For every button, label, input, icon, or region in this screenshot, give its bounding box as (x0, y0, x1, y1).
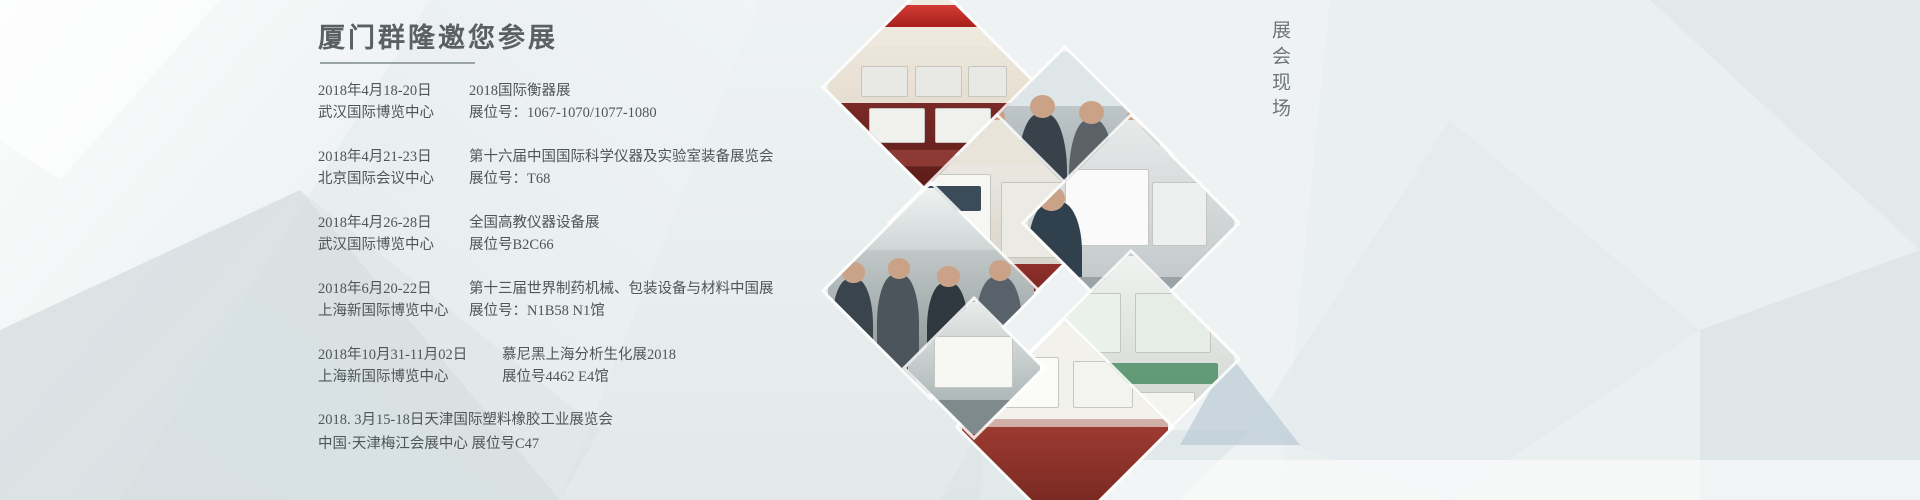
event-booth: 展位号：N1B58 N1馆 (453, 300, 605, 322)
event-booth: 展位号B2C66 (453, 234, 554, 256)
event-venue: 武汉国际博览中心 (318, 234, 453, 256)
vertical-caption: 展会现场 (1266, 20, 1293, 124)
event-row-secondary: 武汉国际博览中心 展位号B2C66 (318, 234, 1078, 256)
event-venue: 上海新国际博览中心 (318, 300, 453, 322)
event-name: 全国高教仪器设备展 (453, 212, 600, 234)
title-underline (320, 62, 475, 64)
event-venue: 上海新国际博览中心 (318, 366, 486, 388)
event-row-secondary: 北京国际会议中心 展位号：T68 (318, 168, 1078, 190)
event-row-primary: 2018年4月26-28日 全国高教仪器设备展 (318, 212, 1078, 234)
event-row-secondary: 中国·天津梅江会展中心 展位号C47 (318, 433, 1078, 456)
event-item: 2018年4月26-28日 全国高教仪器设备展 武汉国际博览中心 展位号B2C6… (318, 212, 1078, 257)
event-row-primary: 2018年4月18-20日 2018国际衡器展 (318, 80, 1078, 102)
event-venue-booth-line: 中国·天津梅江会展中心 展位号C47 (318, 436, 539, 452)
event-item: 2018年4月21-23日 第十六届中国国际科学仪器及实验室装备展览会 北京国际… (318, 146, 1078, 191)
event-row-secondary: 上海新国际博览中心 展位号：N1B58 N1馆 (318, 300, 1078, 322)
event-item: 2018年4月18-20日 2018国际衡器展 武汉国际博览中心 展位号：106… (318, 80, 1078, 125)
event-row-secondary: 上海新国际博览中心 展位号4462 E4馆 (318, 366, 1078, 388)
event-item: 2018年6月20-22日 第十三届世界制药机械、包装设备与材料中国展 上海新国… (318, 278, 1078, 323)
event-venue: 武汉国际博览中心 (318, 102, 453, 124)
event-name: 第十三届世界制药机械、包装设备与材料中国展 (453, 278, 774, 300)
event-booth: 展位号：T68 (453, 168, 550, 190)
event-row-primary: 2018年10月31-11月02日 慕尼黑上海分析生化展2018 (318, 344, 1078, 366)
event-date: 2018年6月20-22日 (318, 278, 453, 300)
event-item: 2018. 3月15-18日天津国际塑料橡胶工业展览会 中国·天津梅江会展中心 … (318, 409, 1078, 455)
event-booth: 展位号4462 E4馆 (486, 366, 609, 388)
page-title: 厦门群隆邀您参展 (318, 22, 1078, 56)
event-venue: 北京国际会议中心 (318, 168, 453, 190)
event-item: 2018年10月31-11月02日 慕尼黑上海分析生化展2018 上海新国际博览… (318, 344, 1078, 389)
event-row-primary: 2018年6月20-22日 第十三届世界制药机械、包装设备与材料中国展 (318, 278, 1078, 300)
event-row-primary: 2018. 3月15-18日天津国际塑料橡胶工业展览会 (318, 409, 1078, 432)
event-name: 2018国际衡器展 (453, 80, 571, 102)
event-name: 第十六届中国国际科学仪器及实验室装备展览会 (453, 146, 774, 168)
event-name: 慕尼黑上海分析生化展2018 (486, 344, 676, 366)
event-date: 2018年4月21-23日 (318, 146, 453, 168)
exhibition-banner: 展会现场 厦门群隆邀您参展 2018年4月18-20日 2018国际衡器展 武汉… (0, 0, 1920, 500)
event-date: 2018年4月26-28日 (318, 212, 453, 234)
event-date: 2018年4月18-20日 (318, 80, 453, 102)
event-row-secondary: 武汉国际博览中心 展位号：1067-1070/1077-1080 (318, 102, 1078, 124)
event-row-primary: 2018年4月21-23日 第十六届中国国际科学仪器及实验室装备展览会 (318, 146, 1078, 168)
event-list-column: 厦门群隆邀您参展 2018年4月18-20日 2018国际衡器展 武汉国际博览中… (318, 22, 1078, 492)
event-booth: 展位号：1067-1070/1077-1080 (453, 102, 657, 124)
event-title-line: 2018. 3月15-18日天津国际塑料橡胶工业展览会 (318, 412, 613, 428)
event-date: 2018年10月31-11月02日 (318, 344, 486, 366)
